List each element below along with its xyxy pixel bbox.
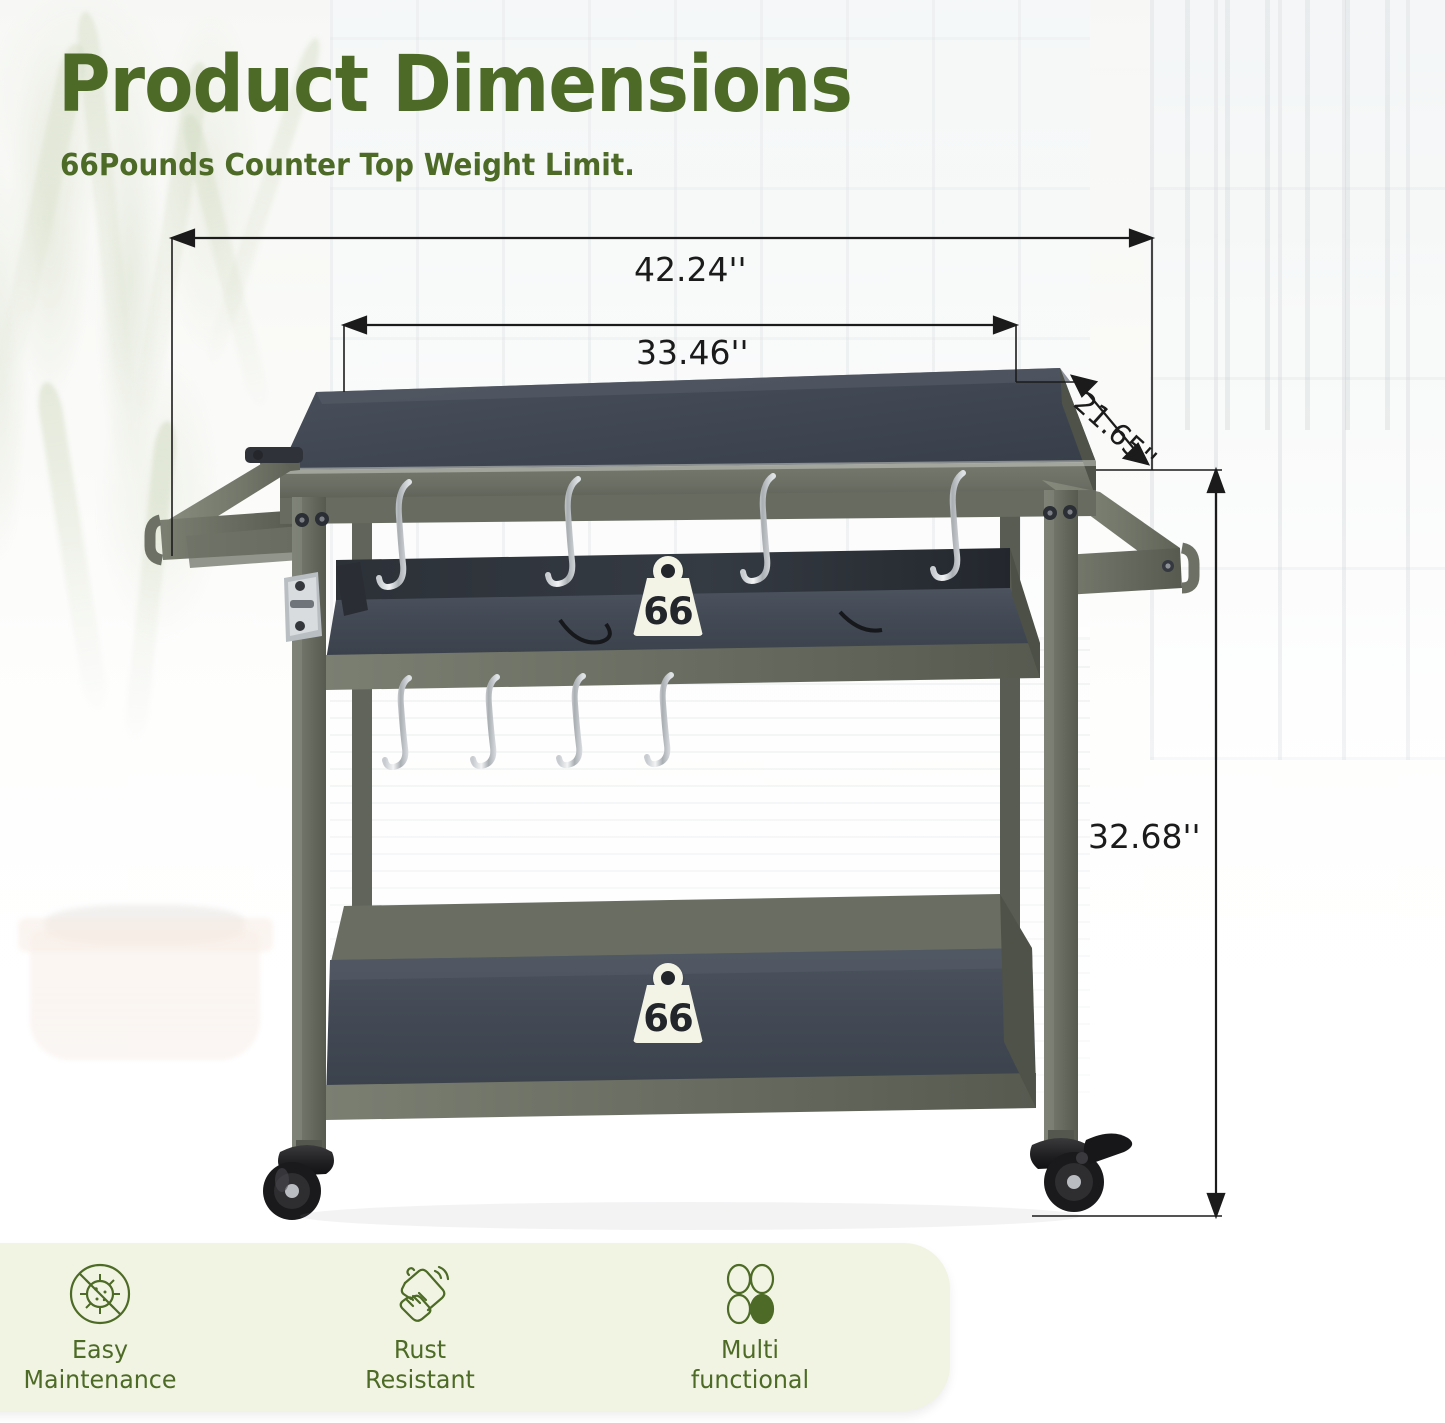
- arrow-right: [1130, 230, 1152, 246]
- badge-value: 66: [633, 997, 703, 1040]
- badge-value: 66: [633, 590, 703, 633]
- feature-rust-resistant: Rust Resistant: [290, 1257, 550, 1394]
- feature-label: Easy Maintenance: [0, 1335, 224, 1394]
- feature-label-line2: Maintenance: [24, 1365, 177, 1394]
- arrow-up: [1208, 470, 1224, 492]
- feature-multi-functional: Multi functional: [620, 1257, 880, 1394]
- feature-label-line1: Easy: [72, 1335, 128, 1364]
- hand-wiping-cloth-icon: [290, 1257, 550, 1331]
- caster-left: [263, 1140, 334, 1220]
- bottle-opener-bracket: [284, 572, 322, 642]
- feature-easy-maintenance: Easy Maintenance: [0, 1257, 230, 1394]
- feature-label: Rust Resistant: [297, 1335, 544, 1394]
- weight-limit-badge-counter-top: 66: [633, 556, 703, 636]
- s-hooks-lower-row: [385, 675, 671, 767]
- feature-panel: Easy Maintenance Rust Resistant: [0, 1243, 950, 1411]
- arrow-left: [172, 230, 194, 246]
- feature-label-line2: Resistant: [365, 1365, 475, 1394]
- arrow-down: [1208, 1194, 1224, 1216]
- height-label: 32.68'': [1088, 817, 1201, 856]
- product-illustration: [0, 0, 1445, 1423]
- brake-lever: [1084, 1133, 1132, 1164]
- no-germs-icon: [0, 1257, 230, 1331]
- infographic-canvas: Product Dimensions 66Pounds Counter Top …: [0, 0, 1445, 1423]
- feature-label-line2: functional: [691, 1365, 809, 1394]
- total-width-label: 42.24'': [634, 250, 747, 289]
- feature-label: Multi functional: [627, 1335, 874, 1394]
- four-dots-grid-icon: [620, 1257, 880, 1331]
- feature-label-line1: Rust: [394, 1335, 446, 1364]
- badge-hole: [661, 564, 675, 578]
- badge-hole: [661, 971, 675, 985]
- arrow-right: [994, 317, 1016, 333]
- caster-right-with-brake: [1030, 1130, 1132, 1212]
- arrow-left: [344, 317, 366, 333]
- feature-label-line1: Multi: [721, 1335, 779, 1364]
- top-width-label: 33.46'': [636, 333, 749, 372]
- weight-limit-badge-bottom-shelf: 66: [633, 963, 703, 1043]
